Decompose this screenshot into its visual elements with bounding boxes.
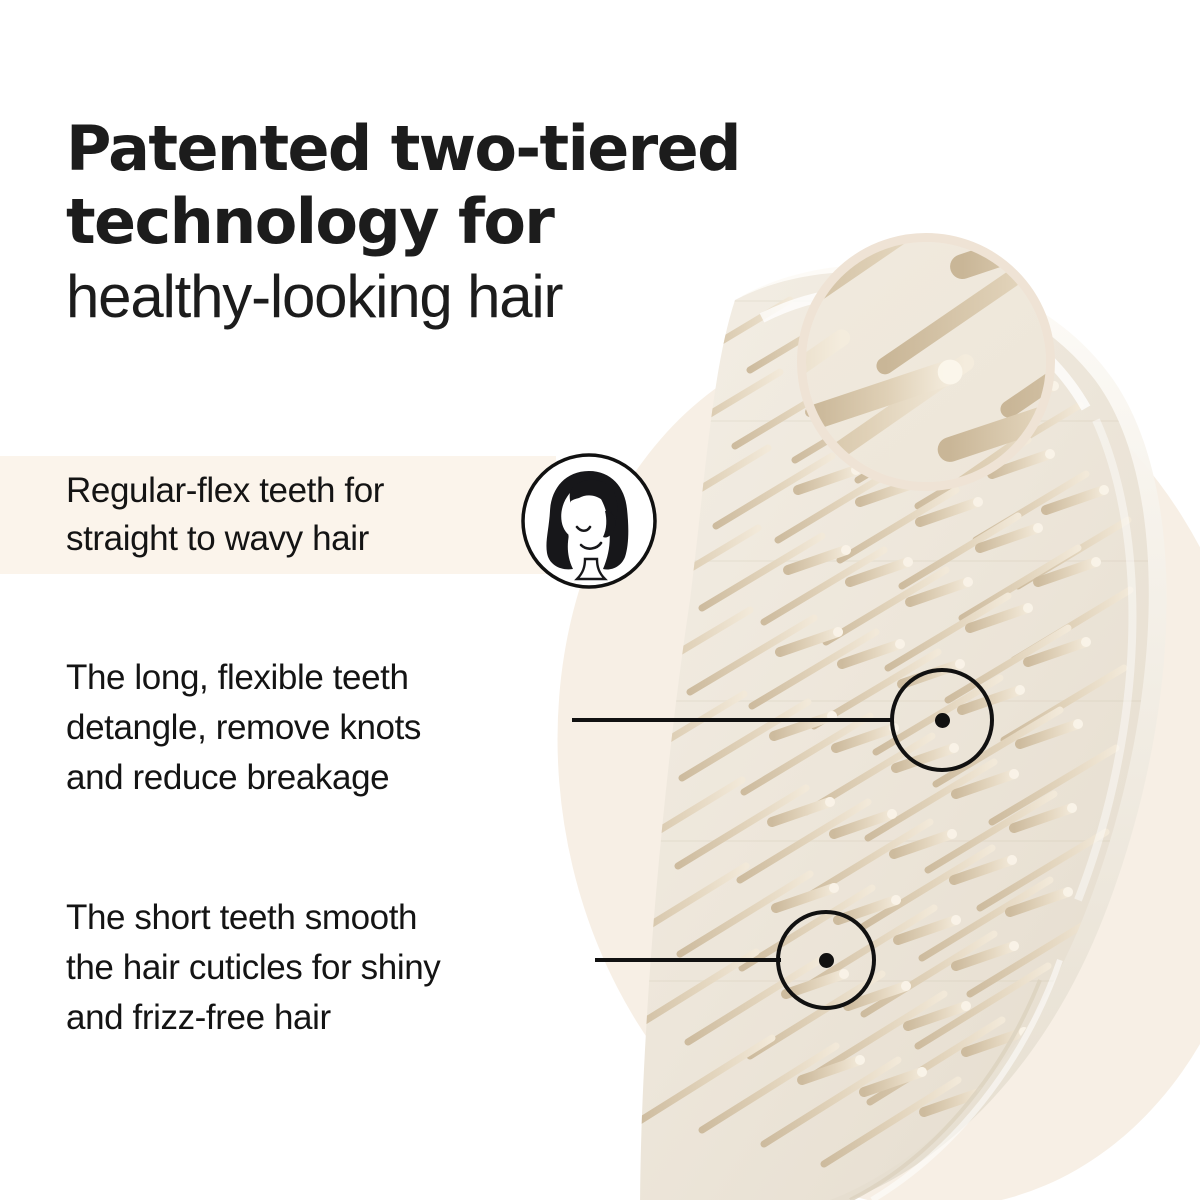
leader-line-long-teeth (572, 718, 894, 722)
page-title: Patented two-tiered technology for healt… (66, 112, 846, 336)
callout-regular-flex-line-1: Regular-flex teeth for (66, 467, 384, 515)
infographic-canvas: Patented two-tiered technology for healt… (0, 0, 1200, 1200)
callout-long-teeth-line-2: detangle, remove knots (66, 703, 421, 753)
headline-line-2: technology for (66, 185, 846, 258)
marker-short-teeth (776, 910, 876, 1010)
callout-long-teeth: The long, flexible teeth detangle, remov… (66, 653, 421, 803)
callout-short-teeth: The short teeth smooth the hair cuticles… (66, 893, 440, 1043)
leader-line-short-teeth (595, 958, 781, 962)
callout-short-teeth-line-1: The short teeth smooth (66, 893, 440, 943)
marker-long-teeth (890, 668, 994, 772)
headline-line-3: healthy-looking hair (66, 258, 846, 336)
callout-short-teeth-line-2: the hair cuticles for shiny (66, 943, 440, 993)
callout-regular-flex-teeth: Regular-flex teeth for straight to wavy … (66, 467, 384, 563)
callout-short-teeth-line-3: and frizz-free hair (66, 993, 440, 1043)
marker-dot-short-teeth (819, 953, 834, 968)
woman-wavy-hair-icon (519, 451, 659, 591)
callout-long-teeth-line-3: and reduce breakage (66, 753, 421, 803)
callout-long-teeth-line-1: The long, flexible teeth (66, 653, 421, 703)
headline-line-1: Patented two-tiered (66, 112, 846, 185)
callout-regular-flex-line-2: straight to wavy hair (66, 515, 384, 563)
marker-dot-long-teeth (935, 713, 950, 728)
